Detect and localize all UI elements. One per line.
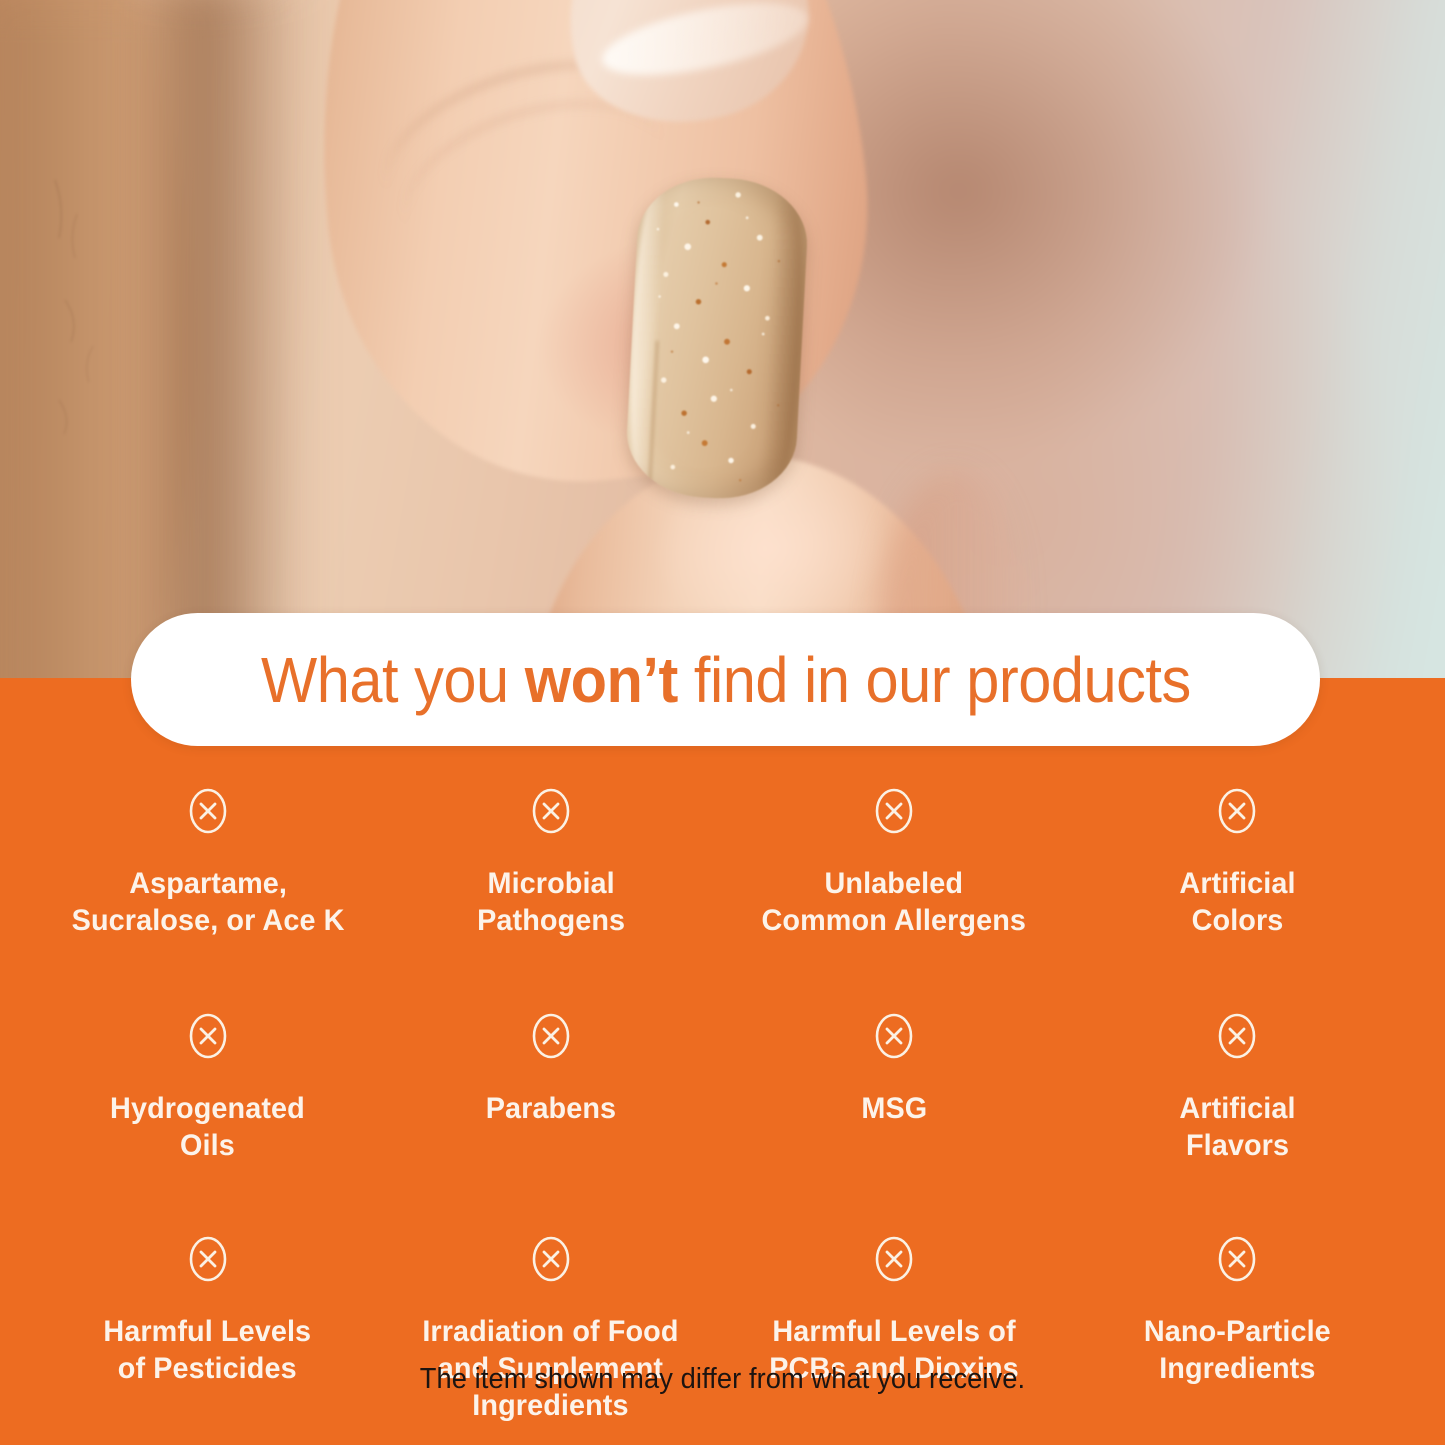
exclusion-item: MSG	[723, 1011, 1066, 1164]
circle-x-icon	[873, 1234, 915, 1284]
photo-left-shadow	[130, 0, 310, 678]
exclusion-label: Parabens	[486, 1091, 616, 1128]
exclusion-label: Artificial Colors	[1179, 866, 1295, 939]
exclusion-label: MSG	[861, 1091, 927, 1128]
exclusion-item: Microbial Pathogens	[379, 786, 722, 939]
circle-x-icon	[530, 1011, 572, 1061]
exclusion-label: Hydrogenated Oils	[110, 1091, 305, 1164]
exclusion-item: Hydrogenated Oils	[36, 1011, 379, 1164]
title-emphasis: won’t	[524, 644, 677, 716]
exclusion-label: Microbial Pathogens	[477, 866, 625, 939]
heading-card: What you won’t find in our products	[131, 613, 1320, 746]
supplement-tablet	[624, 174, 811, 502]
exclusion-item: Artificial Flavors	[1066, 1011, 1409, 1164]
page-title: What you won’t find in our products	[261, 648, 1191, 712]
circle-x-icon	[187, 1234, 229, 1284]
exclusion-item: Artificial Colors	[1066, 786, 1409, 939]
product-photo	[0, 0, 1445, 678]
title-suffix: find in our products	[677, 644, 1190, 716]
circle-x-icon	[1216, 1011, 1258, 1061]
disclaimer-text: The item shown may differ from what you …	[43, 1363, 1401, 1396]
exclusion-label: Aspartame, Sucralose, or Ace K	[71, 866, 344, 939]
circle-x-icon	[187, 786, 229, 836]
exclusion-label: Unlabeled Common Allergens	[762, 866, 1027, 939]
circle-x-icon	[873, 786, 915, 836]
skin-texture	[35, 150, 145, 480]
circle-x-icon	[1216, 1234, 1258, 1284]
circle-x-icon	[530, 786, 572, 836]
title-prefix: What you	[261, 644, 525, 716]
exclusion-item: Parabens	[379, 1011, 722, 1164]
exclusion-item: Unlabeled Common Allergens	[723, 786, 1066, 939]
circle-x-icon	[530, 1234, 572, 1284]
exclusions-grid: Aspartame, Sucralose, or Ace K Microbial…	[0, 786, 1445, 1424]
circle-x-icon	[187, 1011, 229, 1061]
circle-x-icon	[873, 1011, 915, 1061]
product-infographic: What you won’t find in our products Aspa…	[0, 0, 1445, 1445]
exclusion-item: Aspartame, Sucralose, or Ace K	[36, 786, 379, 939]
exclusion-label: Artificial Flavors	[1179, 1091, 1295, 1164]
circle-x-icon	[1216, 786, 1258, 836]
